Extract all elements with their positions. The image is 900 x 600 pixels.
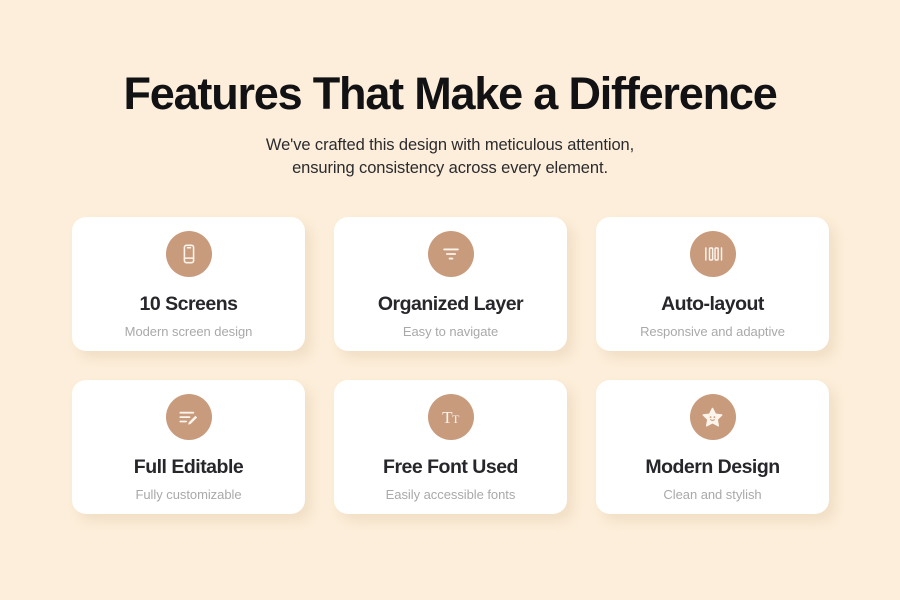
- feature-card-organized-layer[interactable]: Organized Layer Easy to navigate: [334, 217, 567, 351]
- feature-card-subtitle: Easy to navigate: [403, 324, 498, 340]
- feature-card-title: 10 Screens: [140, 292, 238, 316]
- feature-card-title: Auto-layout: [661, 292, 764, 316]
- icon-badge: [166, 231, 212, 277]
- section-subtitle: We've crafted this design with meticulou…: [0, 134, 900, 180]
- mobile-screen-icon: [178, 243, 200, 265]
- auto-layout-bars-icon: [702, 243, 724, 265]
- feature-card-subtitle: Fully customizable: [135, 487, 241, 503]
- icon-badge: [166, 394, 212, 440]
- feature-card-title: Free Font Used: [383, 455, 518, 479]
- feature-card-title: Full Editable: [134, 455, 243, 479]
- icon-badge: TT: [428, 394, 474, 440]
- edit-pencil-icon: [177, 406, 200, 429]
- feature-card-free-font-used[interactable]: TT Free Font Used Easily accessible font…: [334, 380, 567, 514]
- feature-card-auto-layout[interactable]: Auto-layout Responsive and adaptive: [596, 217, 829, 351]
- feature-card-subtitle: Clean and stylish: [663, 487, 761, 503]
- feature-card-subtitle: Easily accessible fonts: [386, 487, 516, 503]
- section-header: Features That Make a Difference We've cr…: [0, 66, 900, 180]
- typography-tt-icon: TT: [442, 409, 459, 426]
- star-smile-icon: [701, 406, 724, 429]
- feature-card-modern-design[interactable]: Modern Design Clean and stylish: [596, 380, 829, 514]
- feature-card-subtitle: Responsive and adaptive: [640, 324, 785, 340]
- section-subtitle-line-2: ensuring consistency across every elemen…: [0, 157, 900, 180]
- filter-layers-icon: [440, 243, 462, 265]
- feature-cards-grid: 10 Screens Modern screen design Organize…: [72, 217, 828, 514]
- features-section: Features That Make a Difference We've cr…: [0, 0, 900, 600]
- icon-badge: [428, 231, 474, 277]
- feature-card-title: Modern Design: [645, 455, 779, 479]
- icon-badge: [690, 394, 736, 440]
- feature-card-title: Organized Layer: [378, 292, 523, 316]
- icon-badge: [690, 231, 736, 277]
- page-title: Features That Make a Difference: [0, 66, 900, 122]
- feature-card-subtitle: Modern screen design: [125, 324, 253, 340]
- feature-card-10-screens[interactable]: 10 Screens Modern screen design: [72, 217, 305, 351]
- feature-card-full-editable[interactable]: Full Editable Fully customizable: [72, 380, 305, 514]
- section-subtitle-line-1: We've crafted this design with meticulou…: [0, 134, 900, 157]
